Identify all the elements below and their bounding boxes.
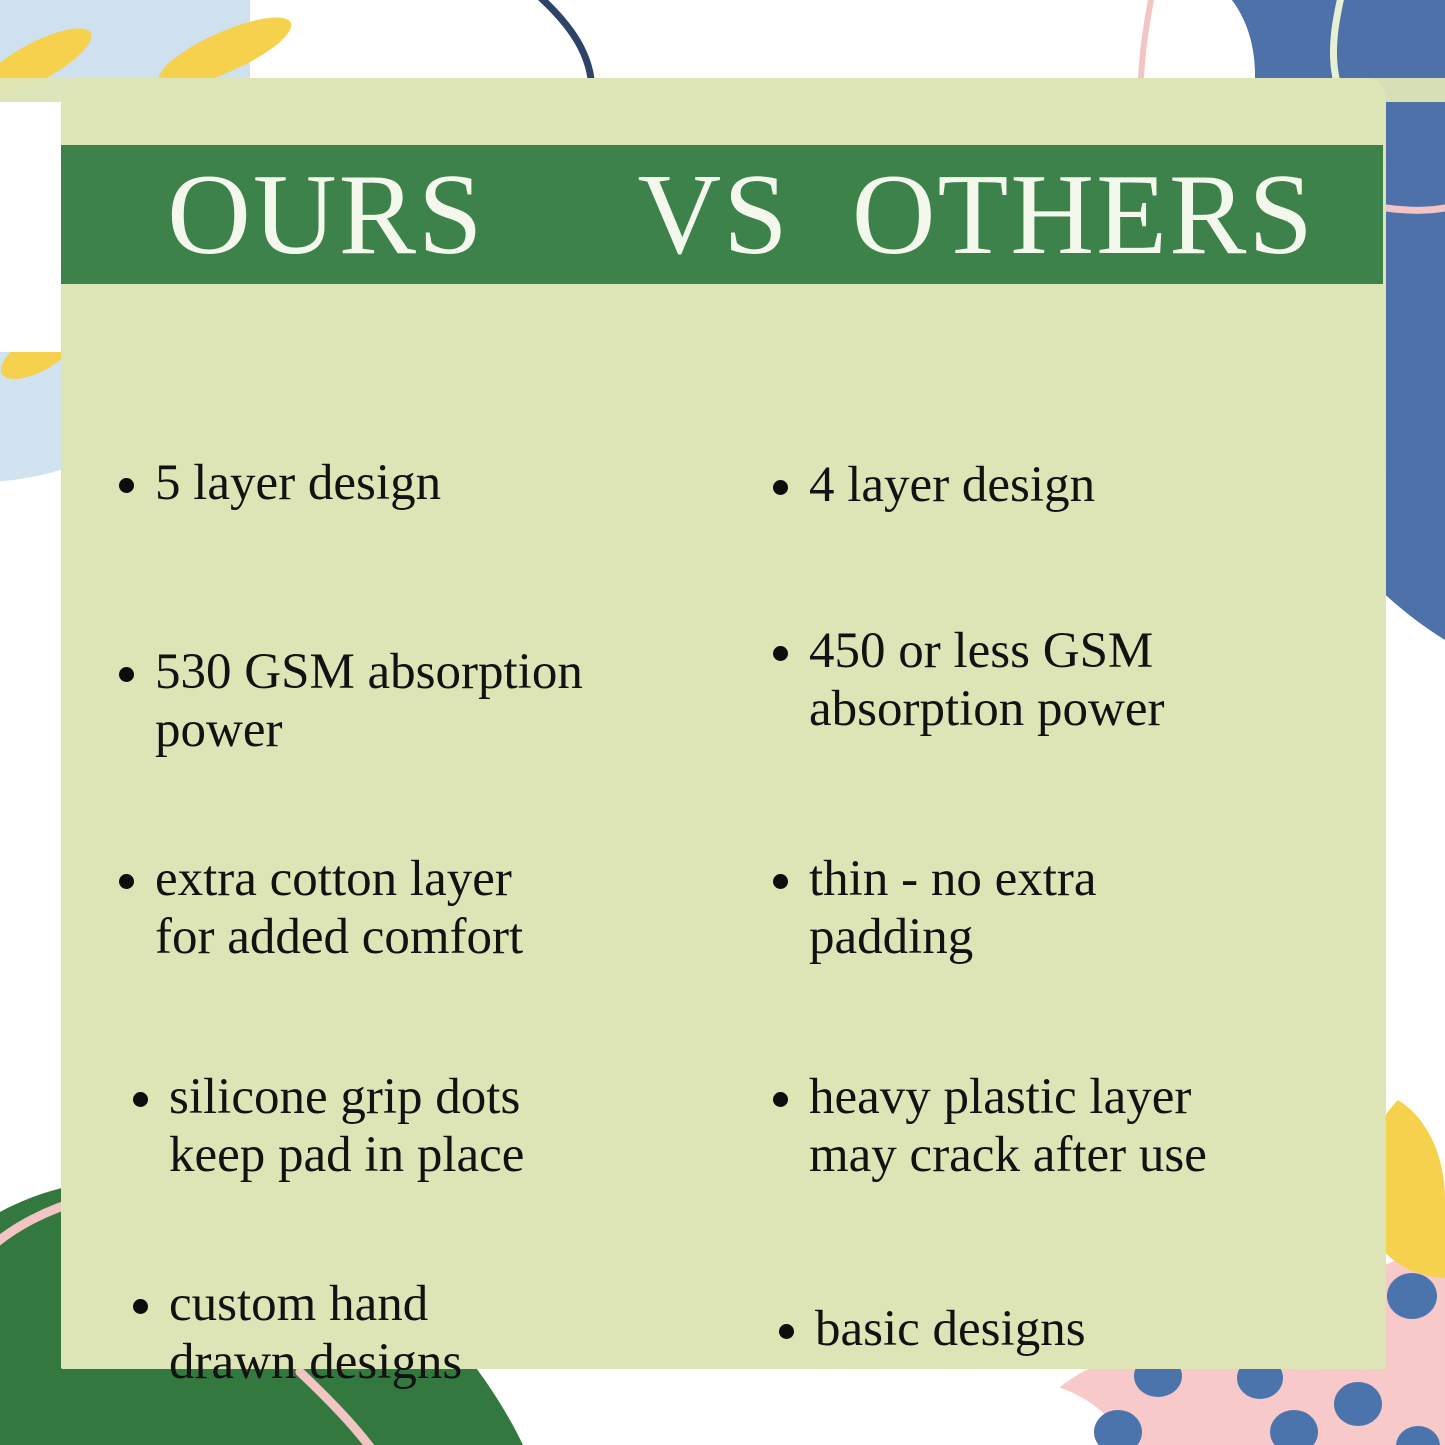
others-item-text: 450 or less GSM absorption power <box>809 622 1165 738</box>
list-item: extra cotton layer for added comfort <box>119 850 523 966</box>
ours-item-text: extra cotton layer for added comfort <box>155 850 523 966</box>
list-item: thin - no extra padding <box>773 850 1097 966</box>
list-item: basic designs <box>779 1300 1086 1358</box>
bullet-dot-icon <box>119 874 134 889</box>
list-item: 450 or less GSM absorption power <box>773 622 1165 738</box>
bullet-dot-icon <box>773 646 788 661</box>
bullet-dot-icon <box>773 1092 788 1107</box>
comparison-card: OURS VS OTHERS 5 layer design 530 GSM ab… <box>61 78 1386 1369</box>
ours-item-text: silicone grip dots keep pad in place <box>169 1068 524 1184</box>
ours-item-text: 530 GSM absorption power <box>155 643 583 759</box>
others-item-text: basic designs <box>815 1300 1086 1358</box>
list-item: silicone grip dots keep pad in place <box>133 1068 524 1184</box>
others-column: 4 layer design 450 or less GSM absorptio… <box>761 284 1386 1369</box>
bullet-dot-icon <box>133 1299 148 1314</box>
infographic-canvas: OURS VS OTHERS 5 layer design 530 GSM ab… <box>0 0 1445 1445</box>
bullet-dot-icon <box>773 874 788 889</box>
list-item: 530 GSM absorption power <box>119 643 583 759</box>
list-item: heavy plastic layer may crack after use <box>773 1068 1207 1184</box>
bullet-dot-icon <box>779 1324 794 1339</box>
page-title: OURS VS OTHERS <box>61 157 1383 273</box>
ours-item-text: 5 layer design <box>155 454 441 512</box>
others-item-text: heavy plastic layer may crack after use <box>809 1068 1207 1184</box>
white-band-left-top <box>0 102 62 352</box>
others-item-text: thin - no extra padding <box>809 850 1097 966</box>
list-item: 4 layer design <box>773 456 1095 514</box>
list-item: custom hand drawn designs <box>133 1275 462 1391</box>
ours-column: 5 layer design 530 GSM absorption power … <box>61 284 761 1369</box>
bullet-dot-icon <box>133 1092 148 1107</box>
bullet-dot-icon <box>773 480 788 495</box>
list-item: 5 layer design <box>119 454 441 512</box>
others-item-text: 4 layer design <box>809 456 1095 514</box>
header-band: OURS VS OTHERS <box>61 145 1383 284</box>
bullet-dot-icon <box>119 667 134 682</box>
bullet-dot-icon <box>119 478 134 493</box>
comparison-columns: 5 layer design 530 GSM absorption power … <box>61 284 1386 1369</box>
ours-item-text: custom hand drawn designs <box>169 1275 462 1391</box>
